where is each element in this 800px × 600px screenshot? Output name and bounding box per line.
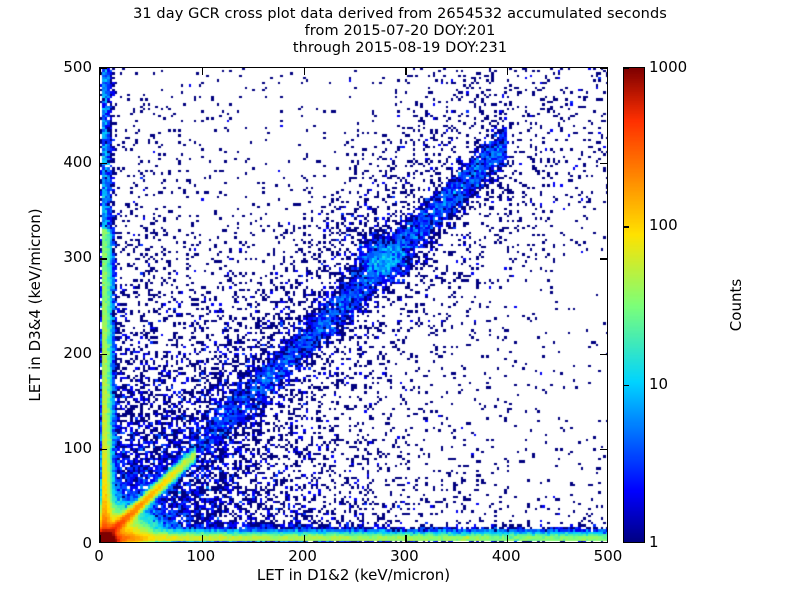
- title-line-3: through 2015-08-19 DOY:231: [0, 40, 800, 57]
- x-tick-400: [507, 68, 508, 75]
- y-axis-title: LET in D3&4 (keV/micron): [26, 67, 44, 543]
- y-tick-400: [100, 163, 107, 164]
- x-tick-400: [507, 535, 508, 542]
- x-tick-0: [100, 535, 101, 542]
- x-ticklabel-400: 400: [492, 547, 521, 565]
- colorbar-ticklabel-10: 10: [649, 375, 668, 393]
- y-tick-100: [600, 449, 607, 450]
- y-tick-400: [600, 163, 607, 164]
- colorbar-ticklabel-100: 100: [649, 216, 678, 234]
- y-tick-300: [100, 258, 107, 259]
- y-ticklabel-500: 500: [63, 58, 92, 76]
- x-tick-100: [202, 535, 203, 542]
- y-tick-100: [100, 449, 107, 450]
- x-tick-300: [405, 68, 406, 75]
- y-tick-200: [100, 354, 107, 355]
- y-tick-500: [100, 68, 107, 69]
- y-ticklabel-200: 200: [63, 344, 92, 362]
- y-tick-200: [600, 354, 607, 355]
- colorbar-title: Counts: [727, 67, 745, 543]
- colorbar[interactable]: [623, 67, 645, 543]
- plot-axes[interactable]: [99, 67, 608, 543]
- colorbar-tick-1000: [624, 68, 629, 69]
- y-ticklabel-0: 0: [82, 534, 92, 552]
- x-ticklabel-100: 100: [186, 547, 215, 565]
- title-line-2: from 2015-07-20 DOY:201: [0, 23, 800, 40]
- y-tick-300: [600, 258, 607, 259]
- x-tick-300: [405, 535, 406, 542]
- colorbar-tick-10: [624, 385, 629, 386]
- page-title: 31 day GCR cross plot data derived from …: [0, 6, 800, 57]
- colorbar-ticklabel-1: 1: [649, 533, 659, 551]
- x-ticklabel-300: 300: [390, 547, 419, 565]
- figure-canvas: 31 day GCR cross plot data derived from …: [0, 0, 800, 600]
- x-axis-title: LET in D1&2 (keV/micron): [99, 566, 608, 584]
- x-ticklabel-500: 500: [594, 547, 623, 565]
- y-tick-500: [600, 68, 607, 69]
- colorbar-gradient: [624, 68, 645, 543]
- x-tick-200: [304, 68, 305, 75]
- y-ticklabel-400: 400: [63, 153, 92, 171]
- x-tick-200: [304, 535, 305, 542]
- x-ticklabel-200: 200: [288, 547, 317, 565]
- x-ticklabel-0: 0: [94, 547, 104, 565]
- colorbar-tick-100: [624, 226, 629, 227]
- heatmap-scatter-layer: [100, 68, 608, 543]
- y-ticklabel-300: 300: [63, 248, 92, 266]
- y-ticklabel-100: 100: [63, 439, 92, 457]
- title-line-1: 31 day GCR cross plot data derived from …: [0, 6, 800, 23]
- x-tick-100: [202, 68, 203, 75]
- colorbar-ticklabel-1000: 1000: [649, 58, 687, 76]
